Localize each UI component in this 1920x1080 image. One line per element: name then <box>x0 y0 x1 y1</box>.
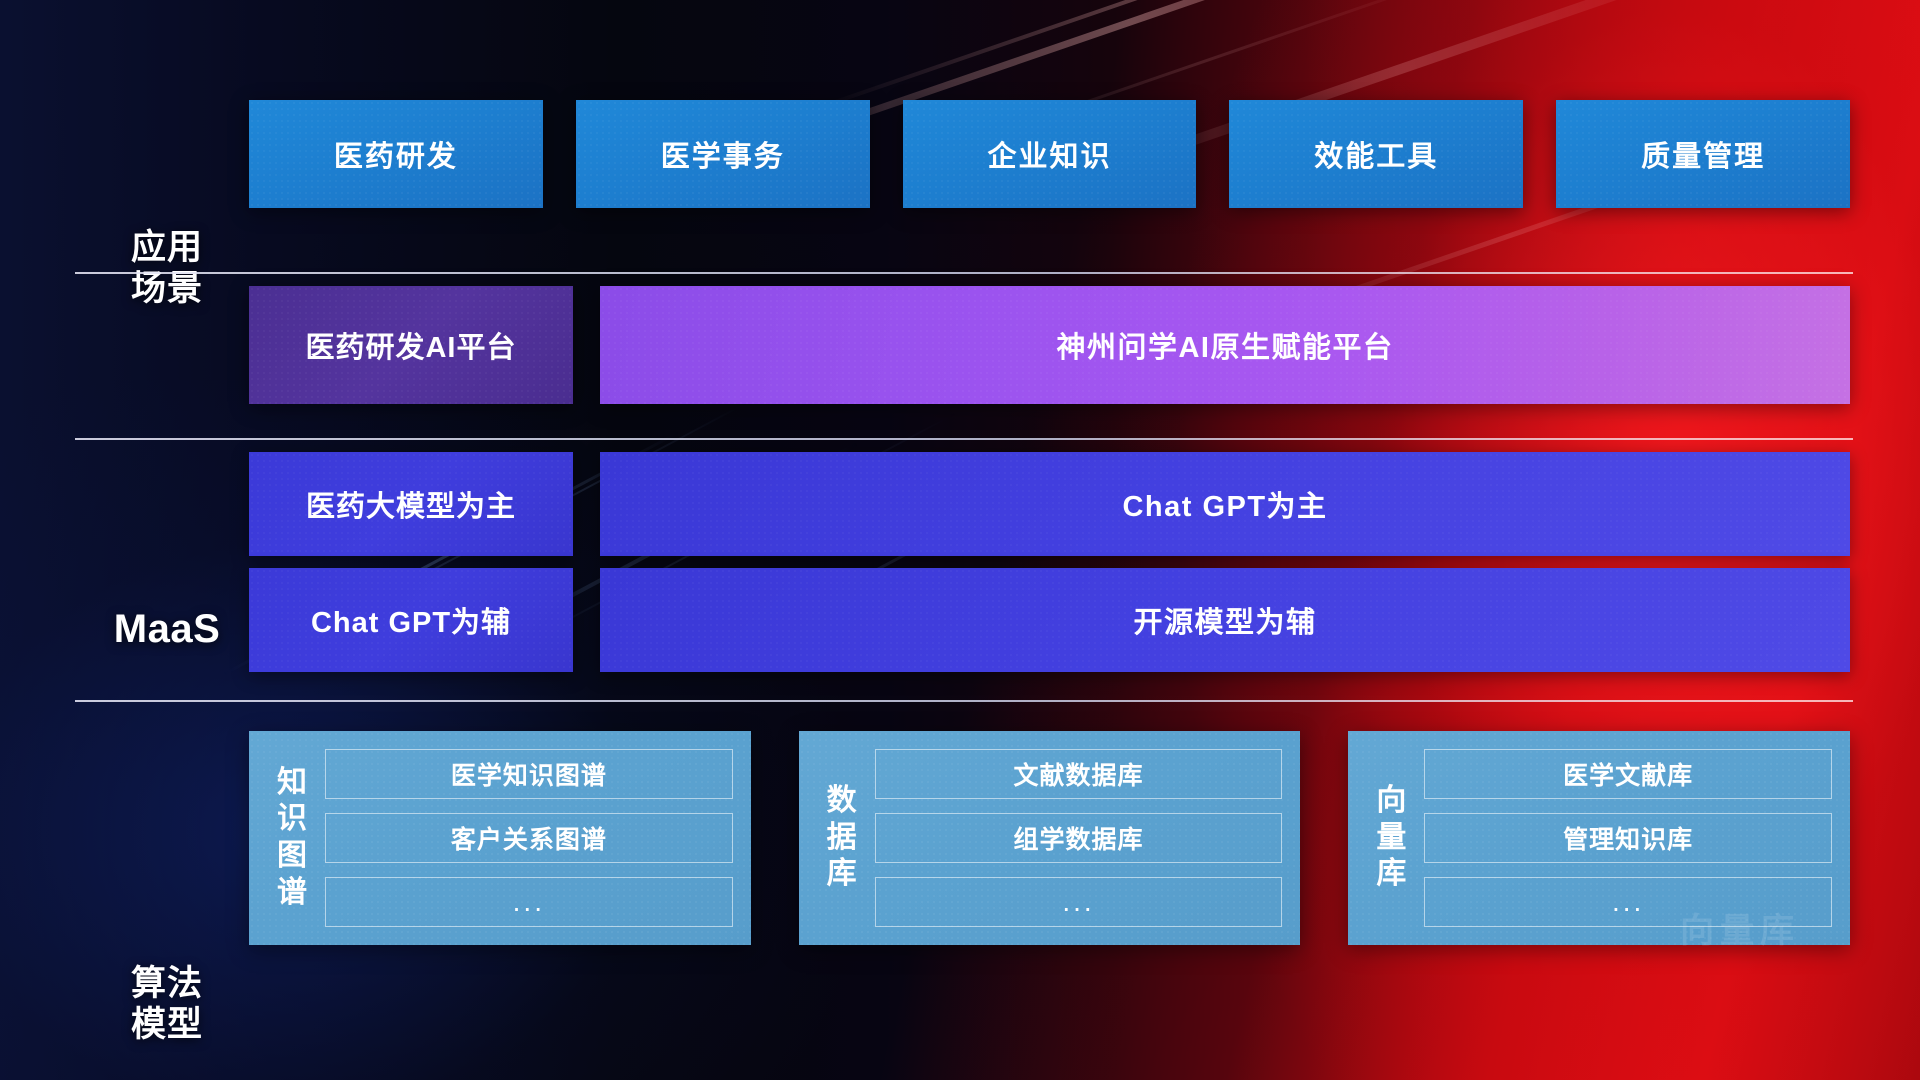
maas-box-pharma-ai-platform-label: 医药研发AI平台 <box>305 324 516 366</box>
separator-1 <box>75 272 1853 274</box>
algorithm-box-primary-right-label: Chat GPT为主 <box>1122 483 1327 525</box>
algorithm-row-1: Chat GPT为辅 开源模型为辅 <box>249 568 1850 672</box>
knowledge-group-vector-store[interactable]: 向量库 医学文献库 管理知识库 ... <box>1348 731 1850 945</box>
maas-box-enabling-platform[interactable]: 神州问学AI原生赋能平台 <box>600 286 1850 404</box>
maas-box-enabling-platform-label: 神州问学AI原生赋能平台 <box>1056 324 1393 366</box>
knowledge-item-0-1-label: 客户关系图谱 <box>451 820 607 856</box>
algorithm-box-stack: 医药大模型为主 Chat GPT为主 Chat GPT为辅 开源模型为辅 <box>249 452 1850 684</box>
application-scenario-box-list: 医药研发 医学事务 企业知识 效能工具 质量管理 <box>249 100 1850 208</box>
separator-3 <box>75 700 1853 702</box>
knowledge-item-0-2[interactable]: ... <box>325 877 733 927</box>
app-box-3-label: 效能工具 <box>1314 133 1438 175</box>
knowledge-group-0-title: 知识图谱 <box>259 765 325 911</box>
knowledge-group-2-title: 向量库 <box>1358 783 1424 893</box>
knowledge-group-list: 知识图谱 医学知识图谱 客户关系图谱 ... 数据库 文献数据库 组学数据库 .… <box>249 731 1850 945</box>
algorithm-box-primary-left[interactable]: 医药大模型为主 <box>249 452 573 556</box>
knowledge-item-2-1-label: 管理知识库 <box>1563 820 1693 856</box>
slide-canvas: 应用 场景 医药研发 医学事务 企业知识 效能工具 质量管理 MaaS 医药研发… <box>0 0 1920 1080</box>
knowledge-item-2-2[interactable]: ... <box>1424 877 1832 927</box>
algorithm-box-primary-left-label: 医药大模型为主 <box>306 483 516 525</box>
knowledge-item-1-0-label: 文献数据库 <box>1014 756 1144 792</box>
knowledge-item-1-2-label: ... <box>1062 886 1094 918</box>
app-box-3[interactable]: 效能工具 <box>1229 100 1523 208</box>
app-box-2-label: 企业知识 <box>987 133 1111 175</box>
app-box-4[interactable]: 质量管理 <box>1556 100 1850 208</box>
knowledge-item-1-0[interactable]: 文献数据库 <box>875 749 1283 799</box>
algorithm-box-secondary-left[interactable]: Chat GPT为辅 <box>249 568 573 672</box>
knowledge-group-0-items: 医学知识图谱 客户关系图谱 ... <box>325 749 733 927</box>
algorithm-box-secondary-left-label: Chat GPT为辅 <box>311 599 511 641</box>
knowledge-group-1-title: 数据库 <box>809 783 875 893</box>
knowledge-item-0-1[interactable]: 客户关系图谱 <box>325 813 733 863</box>
knowledge-item-1-1-label: 组学数据库 <box>1014 820 1144 856</box>
algorithm-box-primary-right[interactable]: Chat GPT为主 <box>600 452 1850 556</box>
knowledge-item-1-1[interactable]: 组学数据库 <box>875 813 1283 863</box>
app-box-2[interactable]: 企业知识 <box>903 100 1197 208</box>
knowledge-item-2-1[interactable]: 管理知识库 <box>1424 813 1832 863</box>
knowledge-item-2-2-label: ... <box>1612 886 1644 918</box>
app-box-0[interactable]: 医药研发 <box>249 100 543 208</box>
knowledge-group-database[interactable]: 数据库 文献数据库 组学数据库 ... <box>799 731 1301 945</box>
knowledge-group-2-items: 医学文献库 管理知识库 ... <box>1424 749 1832 927</box>
maas-box-pharma-ai-platform[interactable]: 医药研发AI平台 <box>249 286 573 404</box>
architecture-layers: 应用 场景 医药研发 医学事务 企业知识 效能工具 质量管理 MaaS 医药研发… <box>0 0 1920 1080</box>
knowledge-item-0-0[interactable]: 医学知识图谱 <box>325 749 733 799</box>
app-box-0-label: 医药研发 <box>334 133 458 175</box>
algorithm-box-secondary-right[interactable]: 开源模型为辅 <box>600 568 1850 672</box>
knowledge-group-1-items: 文献数据库 组学数据库 ... <box>875 749 1283 927</box>
algorithm-row-0: 医药大模型为主 Chat GPT为主 <box>249 452 1850 556</box>
app-box-1-label: 医学事务 <box>661 133 785 175</box>
knowledge-item-1-2[interactable]: ... <box>875 877 1283 927</box>
layer-algorithm-models: 算法 模型 医药大模型为主 Chat GPT为主 Chat GPT为辅 开源模型… <box>0 452 1920 692</box>
knowledge-item-0-0-label: 医学知识图谱 <box>451 756 607 792</box>
layer-maas: MaaS 医药研发AI平台 神州问学AI原生赋能平台 <box>0 286 1920 416</box>
app-box-4-label: 质量管理 <box>1641 133 1765 175</box>
separator-2 <box>75 438 1853 440</box>
layer-knowledge-data: 知识 数据 知识图谱 医学知识图谱 客户关系图谱 ... 数据库 文献数据库 组… <box>0 706 1920 986</box>
maas-box-list: 医药研发AI平台 神州问学AI原生赋能平台 <box>249 286 1850 404</box>
knowledge-group-knowledge-graph[interactable]: 知识图谱 医学知识图谱 客户关系图谱 ... <box>249 731 751 945</box>
app-box-1[interactable]: 医学事务 <box>576 100 870 208</box>
algorithm-box-secondary-right-label: 开源模型为辅 <box>1133 599 1316 641</box>
knowledge-item-2-0-label: 医学文献库 <box>1563 756 1693 792</box>
knowledge-item-0-2-label: ... <box>513 886 545 918</box>
knowledge-item-2-0[interactable]: 医学文献库 <box>1424 749 1832 799</box>
layer-application-scenarios: 应用 场景 医药研发 医学事务 企业知识 效能工具 质量管理 <box>0 100 1920 250</box>
